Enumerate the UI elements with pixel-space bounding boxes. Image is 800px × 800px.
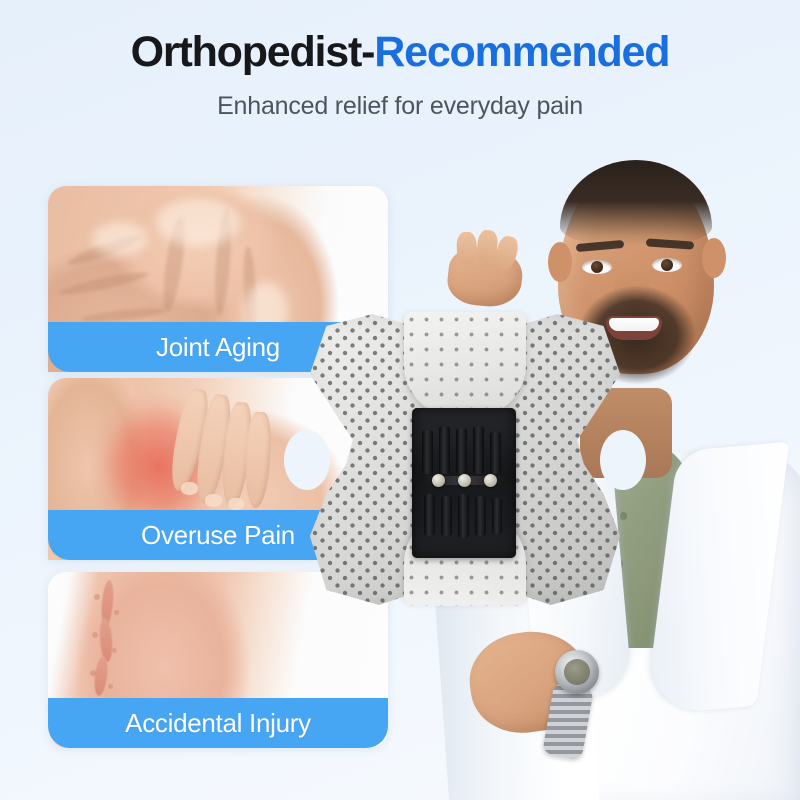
- page-title-blue-part: Recommended: [374, 28, 669, 76]
- card-label-bar: Accidental Injury: [48, 698, 388, 748]
- knee-brace-product: [300, 308, 630, 608]
- promo-banner: Orthopedist-Recommended Enhanced relief …: [0, 0, 800, 800]
- brace-pad-top: [404, 312, 526, 418]
- page-title-dark-part: Orthopedist-: [131, 28, 375, 76]
- card-label-text: Joint Aging: [156, 332, 280, 363]
- wristwatch: [555, 650, 599, 694]
- card-label-text: Overuse Pain: [141, 520, 295, 551]
- page-subtitle: Enhanced relief for everyday pain: [0, 92, 800, 121]
- hair: [560, 160, 712, 246]
- card-label-text: Accidental Injury: [125, 708, 311, 739]
- brace-hinge-panel: [412, 408, 516, 558]
- page-title: Orthopedist-Recommended: [0, 30, 800, 75]
- hand-upper: [445, 244, 525, 309]
